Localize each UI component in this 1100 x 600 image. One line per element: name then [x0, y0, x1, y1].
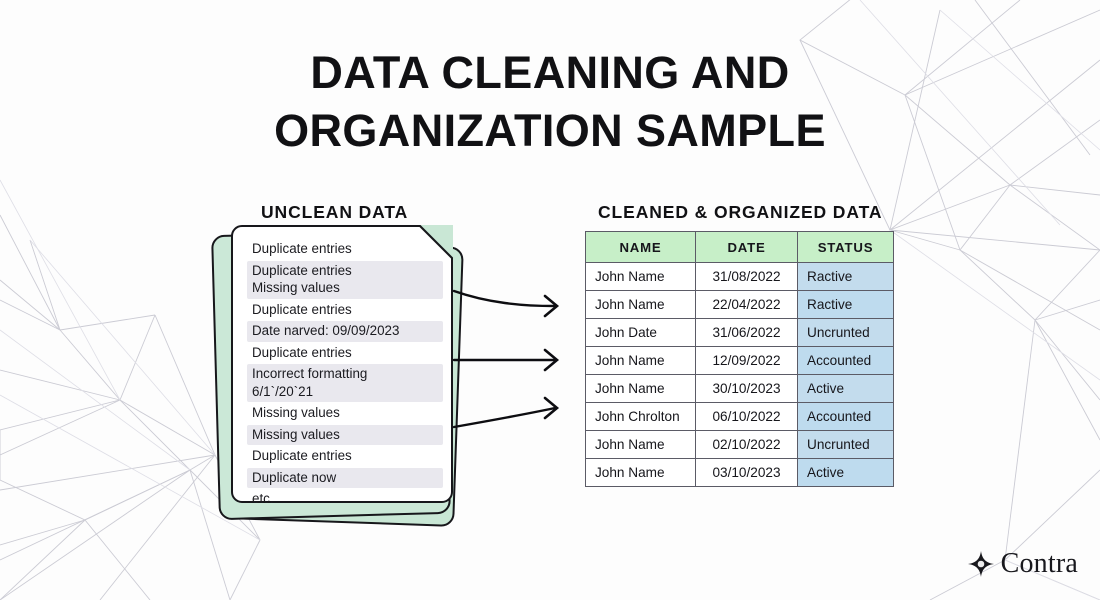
cell-status: Accounted — [798, 403, 894, 431]
cell-name: John Name — [586, 291, 696, 319]
unclean-data-paper-stack: Duplicate entriesDuplicate entries Missi… — [205, 225, 475, 525]
column-header-name: NAME — [586, 232, 696, 263]
unclean-list-item: Incorrect formatting 6/1`/20`21 — [247, 364, 443, 402]
cell-date: 31/06/2022 — [696, 319, 798, 347]
four-point-star-icon — [968, 551, 994, 577]
cell-name: John Name — [586, 459, 696, 487]
cell-name: John Name — [586, 431, 696, 459]
brand-name: Contra — [1001, 550, 1078, 578]
flow-arrows-group — [452, 275, 577, 445]
unclean-list-item: Duplicate entries — [247, 446, 443, 467]
cell-status: Ractive — [798, 291, 894, 319]
cell-name: John Name — [586, 263, 696, 291]
page-title: DATA CLEANING AND ORGANIZATION SAMPLE — [0, 44, 1100, 160]
unclean-list-item: Missing values — [247, 403, 443, 424]
cell-status: Ractive — [798, 263, 894, 291]
arrow-right-icon-1 — [454, 291, 555, 306]
unclean-list-item: Duplicate now — [247, 468, 443, 489]
unclean-list-item: Date narved: 09/09/2023 — [247, 321, 443, 342]
unclean-list-item: Duplicate entries — [247, 300, 443, 321]
cell-name: John Date — [586, 319, 696, 347]
cell-date: 02/10/2022 — [696, 431, 798, 459]
unclean-data-heading: UNCLEAN DATA — [261, 202, 408, 223]
table-row: John Name31/08/2022Ractive — [586, 263, 894, 291]
cell-status: Active — [798, 375, 894, 403]
cell-date: 06/10/2022 — [696, 403, 798, 431]
cleaned-data-table: NAME DATE STATUS John Name31/08/2022Ract… — [585, 231, 894, 487]
cell-name: John Name — [586, 375, 696, 403]
unclean-list-item: Missing values — [247, 425, 443, 446]
cell-name: John Name — [586, 347, 696, 375]
unclean-list-item: Duplicate entries — [247, 239, 443, 260]
cell-date: 31/08/2022 — [696, 263, 798, 291]
paper-sheet-front: Duplicate entriesDuplicate entries Missi… — [231, 225, 453, 503]
brand-logo: Contra — [968, 550, 1078, 578]
table-row: John Name02/10/2022Uncrunted — [586, 431, 894, 459]
column-header-status: STATUS — [798, 232, 894, 263]
table-row: John Date31/06/2022Uncrunted — [586, 319, 894, 347]
arrow-right-icon-3 — [454, 408, 555, 427]
cell-status: Accounted — [798, 347, 894, 375]
page-title-line-1: DATA CLEANING AND — [0, 44, 1100, 102]
cell-name: John Chrolton — [586, 403, 696, 431]
page-title-line-2: ORGANIZATION SAMPLE — [0, 102, 1100, 160]
cell-status: Active — [798, 459, 894, 487]
table-header-row: NAME DATE STATUS — [586, 232, 894, 263]
unclean-list-item: Duplicate entries — [247, 343, 443, 364]
unclean-issue-list: Duplicate entriesDuplicate entries Missi… — [247, 239, 443, 511]
table-row: John Name12/09/2022Accounted — [586, 347, 894, 375]
cell-status: Uncrunted — [798, 319, 894, 347]
table-row: John Name22/04/2022Ractive — [586, 291, 894, 319]
unclean-list-item: etc. — [247, 489, 443, 510]
table-body: John Name31/08/2022RactiveJohn Name22/04… — [586, 263, 894, 487]
unclean-list-item: Duplicate entries Missing values — [247, 261, 443, 299]
cell-status: Uncrunted — [798, 431, 894, 459]
cell-date: 03/10/2023 — [696, 459, 798, 487]
cell-date: 30/10/2023 — [696, 375, 798, 403]
column-header-date: DATE — [696, 232, 798, 263]
cell-date: 12/09/2022 — [696, 347, 798, 375]
table-row: John Name30/10/2023Active — [586, 375, 894, 403]
table-row: John Name03/10/2023Active — [586, 459, 894, 487]
slide-canvas: DATA CLEANING AND ORGANIZATION SAMPLE UN… — [0, 0, 1100, 600]
cleaned-data-heading: CLEANED & ORGANIZED DATA — [598, 202, 882, 223]
table-row: John Chrolton06/10/2022Accounted — [586, 403, 894, 431]
cell-date: 22/04/2022 — [696, 291, 798, 319]
